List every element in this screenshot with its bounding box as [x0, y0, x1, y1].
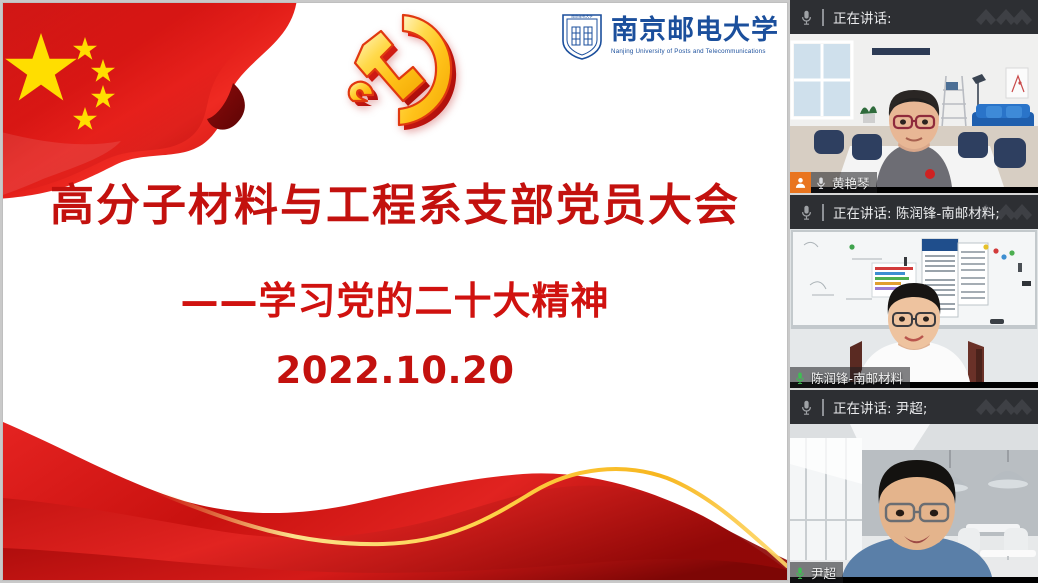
participant-name-tag-1: 黄艳琴 — [790, 172, 877, 193]
shared-slide-region[interactable]: 南京邮电大学 南京邮电大学 Nanjing University of Post… — [0, 0, 790, 583]
slide-ribbon-decoration — [3, 420, 787, 580]
video-tile-1[interactable]: 正在讲话: — [790, 0, 1038, 195]
chevron-watermark-icon — [970, 0, 1032, 34]
speaking-status-1: 正在讲话: — [833, 7, 892, 27]
video-tile-1-stream[interactable]: 黄艳琴 — [790, 34, 1038, 193]
chevron-watermark-icon — [970, 390, 1032, 424]
university-name-cn: 南京邮电大学 — [611, 17, 779, 45]
header-divider — [822, 9, 824, 26]
meeting-screen-share-window: 南京邮电大学 南京邮电大学 Nanjing University of Post… — [0, 0, 1038, 583]
header-divider — [822, 204, 824, 221]
participant-name-1: 黄艳琴 — [832, 173, 870, 192]
participant-name-tag-3: 尹超 — [790, 562, 843, 583]
video-tile-1-header: 正在讲话: — [790, 0, 1038, 34]
video-tile-2-header: 正在讲话: 陈润锋-南邮材料; — [790, 195, 1038, 229]
speaking-status-2: 正在讲话: 陈润锋-南邮材料; — [833, 202, 1000, 222]
slide-date: 2022.10.20 — [3, 349, 787, 392]
microphone-icon — [798, 9, 815, 26]
slide-title-block: 高分子材料与工程系支部党员大会 ——学习党的二十大精神 2022.10.20 — [3, 181, 787, 392]
person-avatar-icon — [790, 172, 811, 193]
video-scene-modern-office-pendant-lights — [790, 424, 1038, 577]
slide-subtitle: ——学习党的二十大精神 — [3, 270, 787, 325]
microphone-icon — [793, 370, 807, 386]
svg-text:南京邮电大学: 南京邮电大学 — [571, 13, 593, 18]
video-tile-3-stream[interactable]: 尹超 — [790, 424, 1038, 583]
video-scene-whiteboard-calendars — [790, 229, 1038, 382]
participant-name-body: 尹超 — [790, 562, 843, 583]
microphone-icon — [798, 399, 815, 416]
microphone-icon — [814, 175, 828, 191]
university-logo: 南京邮电大学 南京邮电大学 Nanjing University of Post… — [560, 11, 779, 61]
video-tile-2[interactable]: 正在讲话: 陈润锋-南邮材料; — [790, 195, 1038, 390]
presentation-slide: 南京邮电大学 南京邮电大学 Nanjing University of Post… — [3, 3, 787, 580]
participant-name-tag-2: 陈润锋-南邮材料 — [790, 367, 910, 388]
video-tile-3-header: 正在讲话: 尹超; — [790, 390, 1038, 424]
university-name-en: Nanjing University of Posts and Telecomm… — [611, 48, 779, 55]
slide-title: 高分子材料与工程系支部党员大会 — [3, 181, 787, 232]
china-flag — [3, 3, 327, 199]
video-scene-office-blue-sofa — [790, 34, 1038, 187]
microphone-icon — [798, 204, 815, 221]
speaking-status-3: 正在讲话: 尹超; — [833, 397, 927, 417]
participant-name-body: 黄艳琴 — [811, 172, 877, 193]
video-tile-2-stream[interactable]: 陈润锋-南邮材料 — [790, 229, 1038, 388]
participant-name-3: 尹超 — [811, 563, 836, 582]
cpc-party-emblem-icon — [336, 5, 472, 151]
participant-name-body: 陈润锋-南邮材料 — [790, 367, 910, 388]
university-shield-icon: 南京邮电大学 — [560, 11, 604, 61]
microphone-icon — [793, 565, 807, 581]
participant-video-column: 正在讲话: — [790, 0, 1038, 583]
header-divider — [822, 399, 824, 416]
participant-name-2: 陈润锋-南邮材料 — [811, 368, 903, 387]
video-tile-3[interactable]: 正在讲话: 尹超; — [790, 390, 1038, 583]
